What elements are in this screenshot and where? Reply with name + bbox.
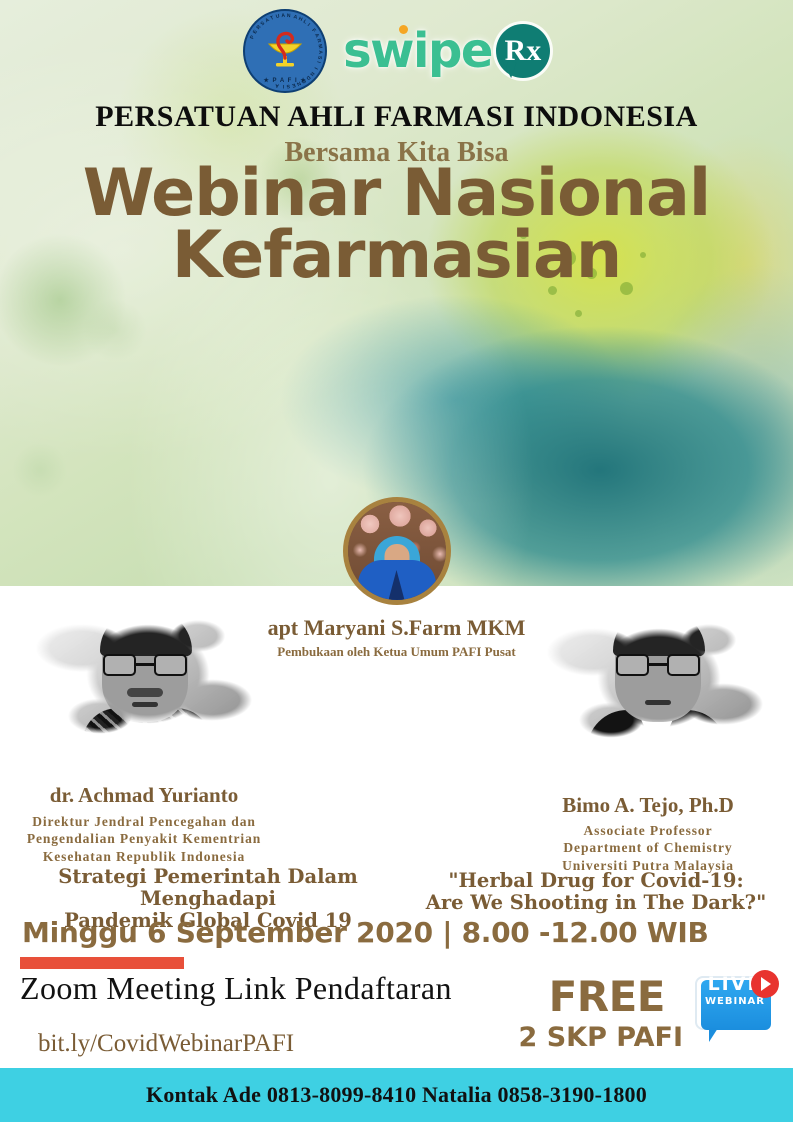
center-speaker-name: apt Maryani S.Farm MKM: [0, 615, 793, 641]
live-webinar-badge: LIVE WEBINAR: [689, 968, 781, 1050]
right-affil-line-2: Department of Chemistry: [478, 839, 793, 856]
rx-text: Rx: [505, 36, 542, 66]
left-speaker-name: dr. Achmad Yurianto: [0, 783, 314, 808]
right-topic-line-2: Are We Shooting in The Dark?": [396, 892, 793, 914]
page-title: Webinar Nasional Kefarmasian: [0, 163, 793, 288]
skp-credits: 2 SKP PAFI: [519, 1022, 683, 1053]
rx-bubble-icon: Rx: [496, 24, 550, 78]
contact-info: Kontak Ade 0813-8099-8410 Natalia 0858-3…: [146, 1082, 647, 1108]
left-affil-line-1: Direktur Jendral Pencegahan dan: [0, 813, 314, 830]
poster-root: P E R S A T U A N A H L I F A R M A S I: [0, 0, 793, 1122]
pafi-acronym: ★ P A F I ★: [245, 77, 325, 84]
center-speaker: apt Maryani S.Farm MKM Pembukaan oleh Ke…: [0, 497, 793, 660]
avatar: [343, 497, 451, 605]
title-line-2: Kefarmasian: [0, 225, 793, 287]
logo-row: P E R S A T U A N A H L I F A R M A S I: [0, 8, 793, 94]
swiperx-logo: swipe Rx: [343, 24, 550, 78]
platform-line: Zoom Meeting Link Pendaftaran: [20, 970, 452, 1007]
right-speaker-name: Bimo A. Tejo, Ph.D: [478, 793, 793, 818]
pafi-logo: P E R S A T U A N A H L I F A R M A S I: [243, 9, 327, 93]
left-topic-line-1: Strategi Pemerintah Dalam Menghadapi: [8, 866, 408, 910]
swipe-text: swipe: [343, 23, 492, 79]
right-affil-line-1: Associate Professor: [478, 822, 793, 839]
right-topic-line-1: "Herbal Drug for Covid-19:: [396, 870, 793, 892]
registration-link[interactable]: bit.ly/CovidWebinarPAFI: [38, 1030, 294, 1058]
footer-bar: Kontak Ade 0813-8099-8410 Natalia 0858-3…: [0, 1068, 793, 1122]
center-speaker-role: Pembukaan oleh Ketua Umum PAFI Pusat: [0, 644, 793, 660]
organization-name: PERSATUAN AHLI FARMASI INDONESIA: [0, 100, 793, 134]
right-speaker-topic: "Herbal Drug for Covid-19: Are We Shooti…: [396, 870, 793, 914]
bowl-of-hygieia-icon: [263, 28, 307, 68]
left-speaker-affiliation: Direktur Jendral Pencegahan dan Pengenda…: [0, 813, 314, 865]
date-time: Minggu 6 September 2020 | 8.00 -12.00 WI…: [22, 916, 709, 949]
play-button-icon: [751, 970, 779, 998]
right-speaker-affiliation: Associate Professor Department of Chemis…: [478, 822, 793, 874]
swipe-wordmark: swipe: [343, 27, 492, 75]
left-affil-line-2: Pengendalian Penyakit Kementrian: [0, 830, 314, 847]
left-affil-line-3: Kesehatan Republik Indonesia: [0, 848, 314, 865]
free-label: FREE: [549, 972, 665, 1021]
red-underline-bar: [20, 957, 184, 969]
